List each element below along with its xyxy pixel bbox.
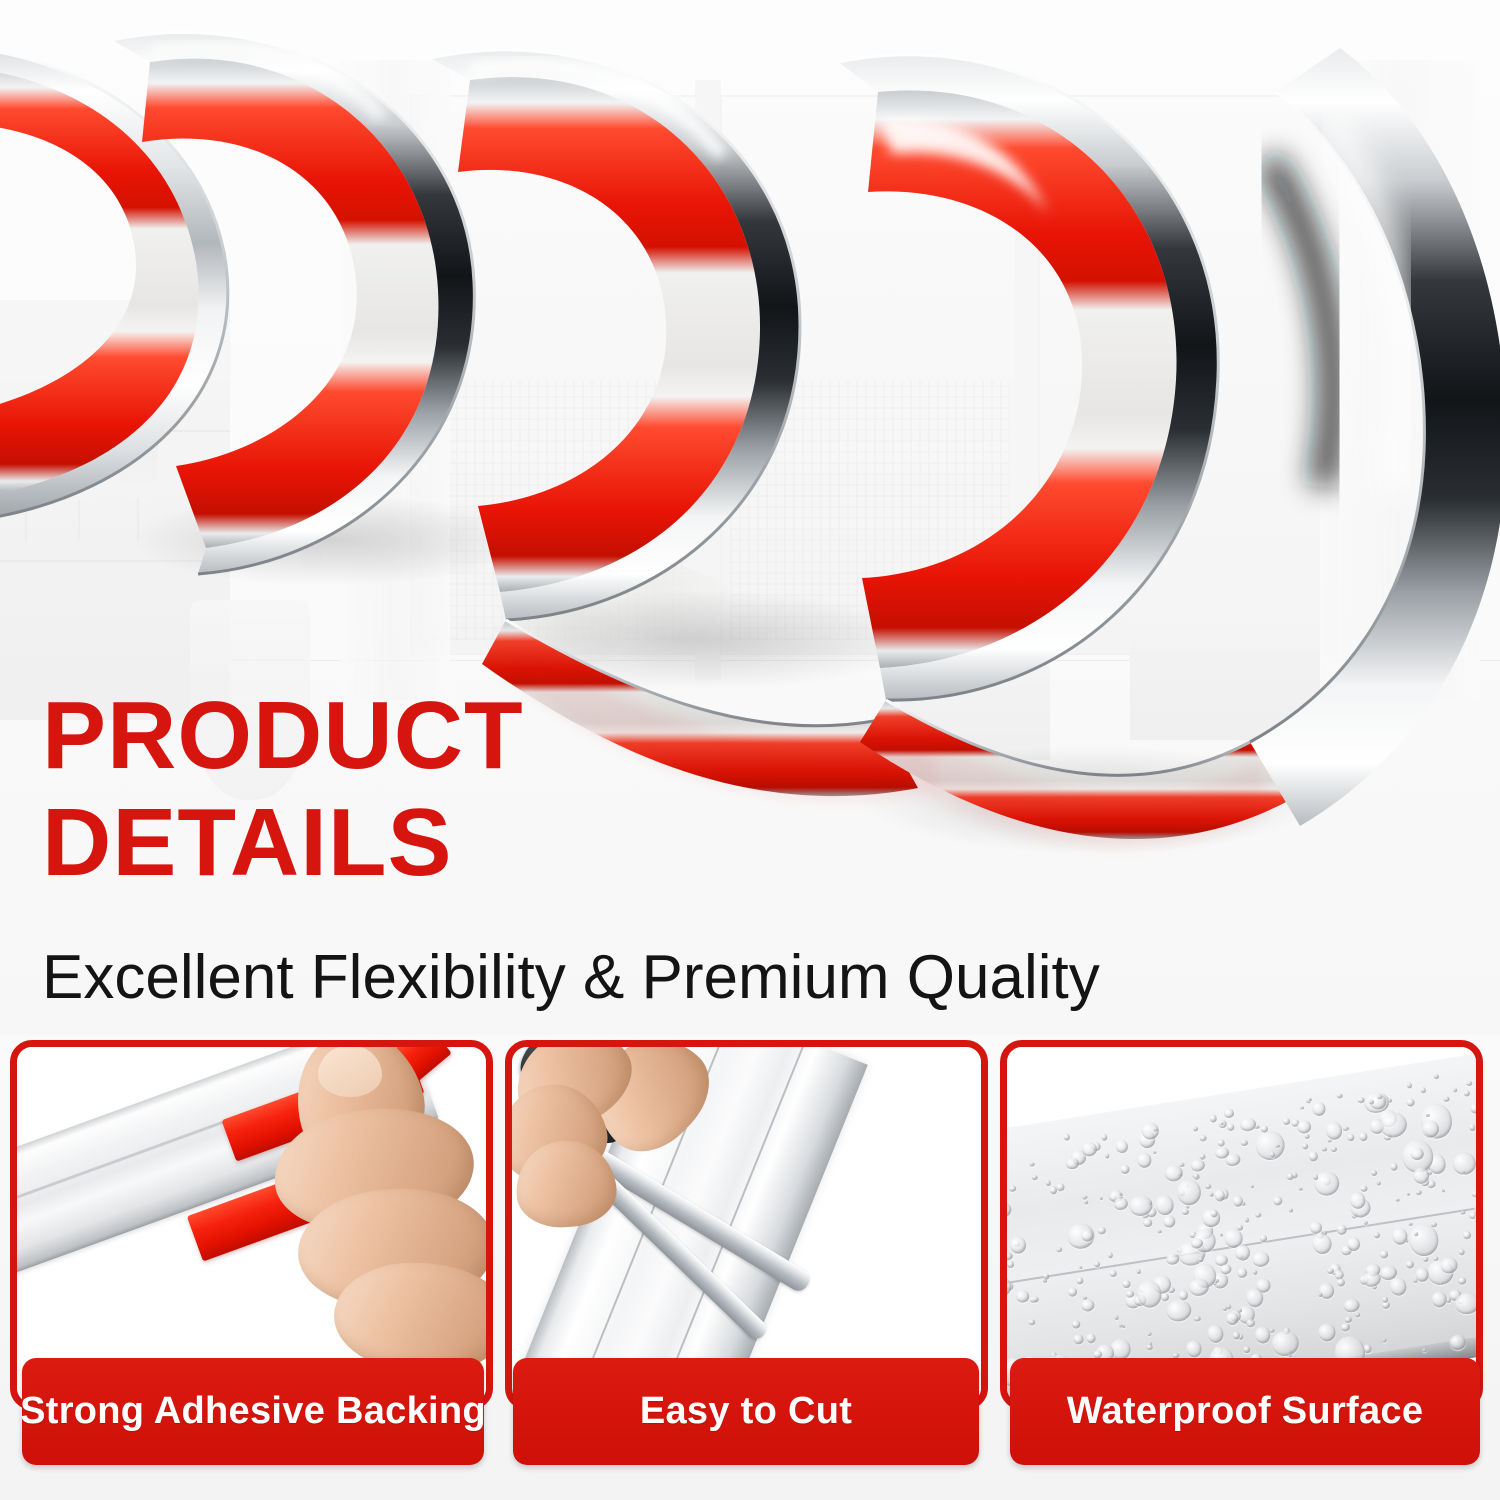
caption-label: Strong Adhesive Backing — [20, 1390, 486, 1433]
water-droplet — [1304, 1134, 1310, 1140]
coil-4 — [838, 55, 1218, 700]
water-droplet — [1234, 1244, 1251, 1262]
water-droplet — [1407, 1192, 1411, 1196]
water-droplet — [1193, 1126, 1198, 1131]
water-droplet — [1178, 1289, 1189, 1300]
water-droplet — [1299, 1187, 1303, 1191]
water-droplet — [1198, 1257, 1204, 1263]
water-droplet — [1311, 1232, 1333, 1255]
water-droplet — [1475, 1276, 1476, 1284]
water-droplet — [1063, 1133, 1071, 1140]
water-droplet — [1199, 1153, 1205, 1160]
water-droplet — [1253, 1270, 1258, 1275]
water-droplet — [1251, 1250, 1271, 1268]
water-droplet — [1237, 1224, 1244, 1231]
water-droplet — [1440, 1281, 1444, 1285]
water-droplet — [1251, 1185, 1254, 1188]
water-droplet — [1377, 1181, 1382, 1185]
water-droplet — [1355, 1312, 1361, 1318]
water-droplet — [1380, 1250, 1389, 1259]
thumbnail — [318, 1047, 382, 1097]
water-droplet — [1347, 1134, 1356, 1142]
water-droplet — [1007, 1260, 1015, 1268]
water-droplet — [1068, 1287, 1078, 1297]
water-droplet — [1082, 1195, 1088, 1200]
water-droplet — [1343, 1126, 1349, 1132]
water-droplet — [1236, 1267, 1248, 1279]
water-droplet — [1242, 1345, 1250, 1353]
water-droplet — [1076, 1277, 1084, 1285]
water-droplet — [1029, 1162, 1035, 1168]
water-droplet — [1073, 1334, 1084, 1346]
water-droplet — [1270, 1329, 1301, 1358]
water-droplet — [1325, 1121, 1343, 1141]
water-droplet — [1007, 1201, 1012, 1219]
water-droplet — [1466, 1081, 1473, 1087]
water-droplet — [1086, 1333, 1096, 1344]
water-droplet — [1336, 1093, 1343, 1099]
water-droplet — [1431, 1290, 1448, 1308]
water-droplet — [1122, 1325, 1125, 1328]
water-droplet — [1239, 1117, 1256, 1132]
water-droplet — [1217, 1139, 1226, 1147]
water-droplet — [1015, 1290, 1029, 1303]
water-droplet — [1318, 1282, 1336, 1300]
water-droplet — [1081, 1299, 1096, 1313]
water-droplet — [1288, 1354, 1292, 1357]
water-droplet — [1430, 1222, 1437, 1228]
coil-5-open-end — [1250, 48, 1500, 826]
water-droplet — [1269, 1328, 1275, 1333]
water-droplet — [1362, 1271, 1382, 1289]
feature-panel-waterproof-surface[interactable] — [1000, 1040, 1483, 1410]
water-droplet — [1286, 1172, 1294, 1180]
water-droplet — [1382, 1338, 1387, 1343]
water-droplet — [1343, 1298, 1360, 1314]
water-droplet — [1460, 1210, 1465, 1215]
water-droplet — [1463, 1090, 1470, 1097]
water-droplet — [1209, 1192, 1214, 1197]
feature-panels: Strong Adhesive Backing Easy to Cut Wate… — [0, 1035, 1500, 1500]
water-droplet — [1122, 1280, 1131, 1289]
water-droplet — [1336, 1278, 1346, 1288]
water-droplet — [1186, 1205, 1190, 1209]
water-droplet — [1297, 1120, 1312, 1135]
water-droplet — [1453, 1088, 1458, 1093]
water-droplet — [1273, 1195, 1283, 1206]
water-droplet — [1147, 1332, 1152, 1337]
water-droplet — [1433, 1074, 1439, 1079]
water-droplet — [1336, 1224, 1347, 1235]
water-droplet — [1194, 1316, 1201, 1322]
water-droplet — [1371, 1170, 1378, 1177]
water-droplet — [1407, 1222, 1441, 1258]
water-droplet — [1071, 1320, 1081, 1329]
water-droplet — [1360, 1185, 1368, 1193]
water-droplet — [1107, 1252, 1113, 1259]
water-droplet — [1389, 1277, 1408, 1297]
water-droplet — [1098, 1226, 1107, 1234]
water-droplet — [1126, 1290, 1135, 1298]
water-droplet — [1359, 1131, 1369, 1141]
water-droplet — [1114, 1315, 1119, 1320]
water-droplet — [1166, 1252, 1180, 1265]
water-droplet — [1468, 1124, 1476, 1132]
water-droplet — [1317, 1323, 1337, 1343]
water-droplet — [1255, 1212, 1261, 1218]
water-droplet — [1422, 1348, 1427, 1352]
water-droplet — [1084, 1200, 1088, 1205]
water-droplet — [1406, 1098, 1415, 1108]
water-droplet — [1046, 1180, 1052, 1186]
water-droplet — [1007, 1313, 1008, 1317]
feature-image-easy-to-cut — [512, 1047, 981, 1403]
hand — [512, 1047, 724, 1259]
water-droplet — [1193, 1174, 1200, 1180]
water-droplet — [1115, 1139, 1129, 1153]
water-droplet — [1160, 1293, 1169, 1303]
water-droplet — [1199, 1134, 1206, 1142]
water-droplet — [1388, 1098, 1392, 1102]
water-droplet — [1163, 1215, 1177, 1229]
water-droplet — [1146, 1344, 1153, 1350]
subtitle: Excellent Flexibility & Premium Quality — [42, 944, 1242, 1012]
water-droplet — [1390, 1162, 1399, 1171]
water-droplet — [1153, 1151, 1157, 1155]
water-droplet — [1185, 1340, 1203, 1359]
hero-section: PRODUCT DETAILS Excellent Flexibility & … — [0, 0, 1500, 1035]
water-droplet — [1426, 1113, 1430, 1117]
water-droplet — [1158, 1230, 1162, 1234]
coil-3 — [430, 50, 800, 620]
water-droplet — [1143, 1218, 1153, 1228]
water-droplet — [1065, 1157, 1079, 1170]
water-droplet — [1105, 1153, 1110, 1159]
water-droplet — [1154, 1194, 1175, 1216]
water-droplet — [1322, 1147, 1328, 1153]
caption-strong-adhesive-backing: Strong Adhesive Backing — [22, 1358, 484, 1465]
water-droplet — [1056, 1183, 1065, 1192]
water-droplet — [1312, 1101, 1326, 1116]
water-droplet — [1441, 1190, 1445, 1193]
water-droplet — [1474, 1214, 1476, 1225]
caption-label: Easy to Cut — [640, 1390, 852, 1433]
water-droplet — [1009, 1235, 1028, 1255]
water-droplet — [1190, 1158, 1206, 1172]
water-droplet — [1136, 1269, 1141, 1274]
water-droplet — [1406, 1082, 1413, 1089]
water-droplet — [1226, 1123, 1234, 1131]
feature-panel-strong-adhesive-backing[interactable] — [10, 1040, 493, 1410]
feature-image-waterproof-surface — [1007, 1047, 1476, 1403]
water-droplet — [1300, 1106, 1304, 1110]
water-droplet — [1042, 1279, 1047, 1283]
title-line-2: DETAILS — [42, 797, 1162, 888]
water-droplet — [1244, 1217, 1249, 1222]
water-droplet — [1219, 1233, 1223, 1237]
water-droplet — [1007, 1251, 1014, 1261]
water-droplet — [1240, 1139, 1248, 1147]
water-droplet — [1056, 1247, 1063, 1254]
feature-panel-easy-to-cut[interactable] — [505, 1040, 988, 1410]
water-droplet — [1405, 1260, 1415, 1270]
water-droplet — [1423, 1257, 1429, 1263]
title-line-1: PRODUCT — [42, 690, 1162, 781]
water-droplet — [1174, 1177, 1202, 1207]
water-droplet — [1327, 1139, 1331, 1143]
water-droplet — [1463, 1231, 1472, 1240]
water-droplet — [1396, 1198, 1400, 1202]
chrome-trim-surface — [1007, 1047, 1476, 1403]
water-droplet — [1136, 1152, 1152, 1169]
water-droplet — [1340, 1322, 1350, 1331]
water-droplet — [1224, 1108, 1235, 1119]
caption-easy-to-cut: Easy to Cut — [513, 1358, 979, 1465]
water-droplet — [1415, 1267, 1429, 1282]
water-droplet — [1225, 1152, 1241, 1167]
water-droplet — [1420, 1087, 1427, 1094]
product-detail-infographic: PRODUCT DETAILS Excellent Flexibility & … — [0, 0, 1500, 1500]
water-droplet — [1165, 1298, 1193, 1322]
water-droplet — [1028, 1319, 1036, 1326]
water-droplet — [1009, 1185, 1017, 1193]
water-droplet — [1180, 1162, 1185, 1167]
water-droplet — [1282, 1117, 1290, 1125]
water-droplet — [1206, 1324, 1225, 1344]
hand — [256, 1047, 486, 1397]
water-droplet — [1032, 1175, 1039, 1181]
water-droplet — [1099, 1196, 1103, 1200]
water-droplet — [1470, 1103, 1476, 1114]
water-droplet — [1443, 1096, 1449, 1103]
water-droplet — [1209, 1114, 1217, 1123]
water-droplet — [1232, 1331, 1240, 1340]
feature-image-strong-adhesive-backing — [17, 1047, 486, 1403]
water-droplet — [1374, 1231, 1381, 1238]
water-droplet — [1330, 1146, 1337, 1152]
caption-label: Waterproof Surface — [1067, 1390, 1424, 1433]
water-droplet — [1246, 1319, 1256, 1328]
water-droplet — [1109, 1269, 1117, 1277]
water-droplet — [1458, 1277, 1466, 1285]
water-droplet — [1255, 1125, 1260, 1129]
water-droplet — [1309, 1151, 1319, 1161]
page-title: PRODUCT DETAILS — [42, 690, 1162, 888]
water-droplet — [1345, 1317, 1352, 1323]
water-droplet — [1408, 1222, 1413, 1226]
water-droplet — [1318, 1293, 1322, 1297]
water-droplet — [1309, 1097, 1313, 1101]
water-droplet — [1205, 1183, 1212, 1189]
water-droplet — [1119, 1164, 1129, 1174]
water-droplet — [1181, 1209, 1189, 1216]
caption-waterproof-surface: Waterproof Surface — [1010, 1358, 1480, 1465]
water-droplet — [1254, 1326, 1272, 1344]
water-droplet — [1458, 1249, 1465, 1256]
water-droplet — [1049, 1186, 1057, 1195]
water-droplet — [1100, 1133, 1108, 1141]
water-droplet — [1113, 1197, 1129, 1211]
water-droplet — [1302, 1143, 1309, 1150]
water-droplet — [1288, 1208, 1293, 1213]
water-droplet — [1415, 1190, 1422, 1196]
water-droplet — [1471, 1189, 1476, 1198]
